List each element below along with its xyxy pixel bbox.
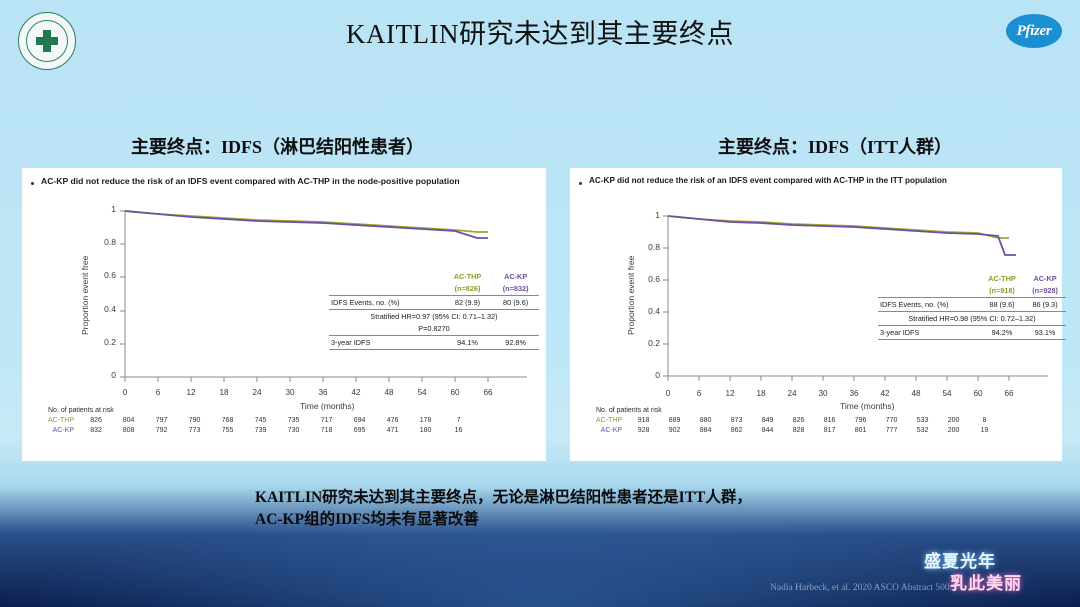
section-heading-right: 主要终点：IDFS（ITT人群）: [718, 133, 952, 159]
x-tick-right-5: 24: [784, 389, 800, 398]
risk-right-kp-2: 884: [690, 425, 721, 435]
risk-right-thp-2: 880: [690, 415, 721, 425]
risk-right-thp-5: 826: [783, 415, 814, 425]
risk-right-kp-3: 862: [721, 425, 752, 435]
x-tick-right-8: 42: [877, 389, 893, 398]
x-tick-left-9: 48: [381, 388, 397, 397]
risk-right-title: No. of patients at risk: [596, 407, 1000, 414]
stats-left-3y-kp: 92.8%: [492, 336, 539, 349]
x-tick-left-8: 42: [348, 388, 364, 397]
x-tick-right-2: 6: [691, 389, 707, 398]
risk-left-title: No. of patients at risk: [48, 407, 475, 414]
stats-left-3y-thp: 94.1%: [443, 336, 493, 349]
risk-right-kp-label: AC-KP: [596, 425, 628, 435]
risk-left-thp-4: 768: [211, 415, 244, 425]
stats-right-3y-thp: 94.2%: [980, 326, 1024, 339]
y-tick-left-4: 0.4: [94, 304, 116, 314]
risk-left-kp-7: 718: [310, 425, 343, 435]
x-tick-left-3: 12: [183, 388, 199, 397]
stats-right-events-kp: 86 (9.3): [1024, 298, 1066, 311]
risk-right-kp-10: 200: [938, 425, 969, 435]
x-tick-right-6: 30: [815, 389, 831, 398]
risk-left-kp-5: 739: [244, 425, 277, 435]
stats-right-thp-label: AC-THP: [980, 272, 1024, 284]
risk-left-thp-1: 804: [112, 415, 145, 425]
x-tick-left-5: 24: [249, 388, 265, 397]
x-tick-left-6: 30: [282, 388, 298, 397]
risk-right-thp-4: 849: [752, 415, 783, 425]
x-tick-left-1: 0: [117, 388, 133, 397]
stats-left-hr: Stratified HR=0.97 (95% CI: 0.71–1.32): [329, 310, 539, 323]
risk-right-kp-6: 817: [814, 425, 845, 435]
risk-left-kp-label: AC-KP: [48, 425, 80, 435]
risk-left-kp-6: 730: [277, 425, 310, 435]
risk-right-thp-1: 889: [659, 415, 690, 425]
risk-left-thp-label: AC-THP: [48, 415, 80, 425]
pfizer-logo: Pfizer: [1006, 14, 1062, 48]
x-tick-left-11: 60: [447, 388, 463, 397]
risk-left-thp-11: 7: [442, 415, 475, 425]
risk-left-row-thp: AC-THP 826 804 797 790 768 745 735 717 6…: [48, 415, 475, 425]
watermark-line-1: 盛夏光年: [924, 547, 996, 572]
x-tick-right-10: 54: [939, 389, 955, 398]
risk-left-kp-8: 695: [343, 425, 376, 435]
y-tick-left-3: 0.6: [94, 270, 116, 280]
y-tick-right-6: 0: [638, 370, 660, 380]
risk-left-thp-5: 745: [244, 415, 277, 425]
risk-left-kp-9: 471: [376, 425, 409, 435]
y-tick-right-2: 0.8: [638, 242, 660, 252]
risk-left-thp-8: 694: [343, 415, 376, 425]
y-tick-right-4: 0.4: [638, 306, 660, 316]
risk-right-thp-8: 770: [876, 415, 907, 425]
risk-right-kp-8: 777: [876, 425, 907, 435]
stats-left-events-label: IDFS Events, no. (%): [329, 296, 443, 309]
bullet-dot-icon: [579, 182, 582, 185]
stats-right-thp-n: (n=918): [980, 284, 1024, 296]
risk-left-thp-9: 476: [376, 415, 409, 425]
risk-right-thp-0: 918: [628, 415, 659, 425]
y-tick-left-6: 0: [94, 370, 116, 380]
risk-table-right: No. of patients at risk AC-THP 918 889 8…: [596, 407, 1000, 435]
x-tick-left-7: 36: [315, 388, 331, 397]
risk-right-row-thp: AC-THP 918 889 880 873 849 826 816 796 7…: [596, 415, 1000, 425]
x-tick-left-12: 66: [480, 388, 496, 397]
panel-left-bullet-text: AC-KP did not reduce the risk of an IDFS…: [41, 176, 460, 187]
stats-table-right: AC-THP AC-KP (n=918) (n=928) IDFS Events…: [878, 272, 1066, 340]
risk-left-kp-3: 773: [178, 425, 211, 435]
risk-right-kp-9: 532: [907, 425, 938, 435]
risk-left-kp-1: 808: [112, 425, 145, 435]
risk-right-kp-1: 902: [659, 425, 690, 435]
risk-left-row-kp: AC-KP 832 808 792 773 755 739 730 718 69…: [48, 425, 475, 435]
risk-right-thp-6: 816: [814, 415, 845, 425]
stats-right-events-label: IDFS Events, no. (%): [878, 298, 980, 311]
risk-right-thp-10: 200: [938, 415, 969, 425]
risk-left-kp-10: 180: [409, 425, 442, 435]
stats-left-thp-label: AC-THP: [443, 270, 493, 282]
x-tick-left-4: 18: [216, 388, 232, 397]
risk-left-kp-2: 792: [145, 425, 178, 435]
risk-left-kp-4: 755: [211, 425, 244, 435]
bullet-dot-icon: [31, 182, 34, 185]
y-tick-right-3: 0.6: [638, 274, 660, 284]
panel-right-bullet-text: AC-KP did not reduce the risk of an IDFS…: [589, 176, 947, 186]
x-tick-right-4: 18: [753, 389, 769, 398]
stats-right-hr: Stratified HR=0.98 (95% CI: 0.72–1.32): [878, 312, 1066, 325]
y-tick-left-2: 0.8: [94, 237, 116, 247]
panel-right-bullet: AC-KP did not reduce the risk of an IDFS…: [570, 168, 1062, 186]
risk-right-kp-5: 828: [783, 425, 814, 435]
risk-right-thp-label: AC-THP: [596, 415, 628, 425]
risk-left-kp-11: 16: [442, 425, 475, 435]
x-tick-right-3: 12: [722, 389, 738, 398]
risk-right-thp-3: 873: [721, 415, 752, 425]
risk-left-thp-2: 797: [145, 415, 178, 425]
stats-left-pvalue: P=0.8270: [329, 322, 539, 334]
x-tick-right-11: 60: [970, 389, 986, 398]
stats-left-kp-n: (n=832): [492, 282, 539, 294]
stats-left-events-thp: 82 (9.9): [443, 296, 493, 309]
risk-left-thp-6: 735: [277, 415, 310, 425]
summary-line-1: KAITLIN研究未达到其主要终点，无论是淋巴结阳性患者还是ITT人群，: [255, 487, 915, 509]
risk-right-kp-0: 928: [628, 425, 659, 435]
summary-text: KAITLIN研究未达到其主要终点，无论是淋巴结阳性患者还是ITT人群， AC-…: [255, 487, 915, 532]
citation: Nadia Harbeck, et al. 2020 ASCO Abstract…: [770, 583, 952, 593]
stats-left-kp-label: AC-KP: [492, 270, 539, 282]
stats-right-3y-kp: 93.1%: [1024, 326, 1066, 339]
y-tick-right-5: 0.2: [638, 338, 660, 348]
y-tick-right-1: 1: [638, 210, 660, 220]
x-tick-right-9: 48: [908, 389, 924, 398]
risk-right-kp-11: 19: [969, 425, 1000, 435]
stats-right-events-thp: 88 (9.6): [980, 298, 1024, 311]
risk-right-thp-9: 533: [907, 415, 938, 425]
risk-table-left: No. of patients at risk AC-THP 826 804 7…: [48, 407, 475, 435]
stats-left-events-kp: 80 (9.6): [492, 296, 539, 309]
risk-right-kp-7: 801: [845, 425, 876, 435]
y-tick-left-5: 0.2: [94, 337, 116, 347]
summary-line-2: AC-KP组的IDFS均未有显著改善: [255, 509, 915, 531]
stats-left-3y-label: 3-year IDFS: [329, 336, 443, 349]
risk-right-row-kp: AC-KP 928 902 884 862 844 828 817 801 77…: [596, 425, 1000, 435]
watermark-line-2: 乳此美丽: [950, 569, 1022, 594]
risk-right-thp-11: 8: [969, 415, 1000, 425]
stats-left-thp-n: (n=826): [443, 282, 493, 294]
x-tick-right-12: 66: [1001, 389, 1017, 398]
panel-left-bullet: AC-KP did not reduce the risk of an IDFS…: [22, 168, 546, 187]
page-title: KAITLIN研究未达到其主要终点: [0, 12, 1080, 51]
pfizer-logo-text: Pfizer: [1017, 23, 1052, 40]
x-tick-right-1: 0: [660, 389, 676, 398]
y-axis-label-left: Proportion event free: [80, 256, 90, 335]
x-tick-left-2: 6: [150, 388, 166, 397]
risk-left-thp-3: 790: [178, 415, 211, 425]
stats-table-left: AC-THP AC-KP (n=826) (n=832) IDFS Events…: [329, 270, 539, 350]
y-tick-left-1: 1: [94, 204, 116, 214]
risk-left-thp-0: 826: [80, 415, 112, 425]
stats-right-3y-label: 3-year IDFS: [878, 326, 980, 339]
risk-right-thp-7: 796: [845, 415, 876, 425]
x-tick-left-10: 54: [414, 388, 430, 397]
risk-left-kp-0: 832: [80, 425, 112, 435]
risk-right-kp-4: 844: [752, 425, 783, 435]
risk-left-thp-10: 178: [409, 415, 442, 425]
section-heading-left: 主要终点：IDFS（淋巴结阳性患者）: [131, 133, 424, 159]
stats-right-kp-label: AC-KP: [1024, 272, 1066, 284]
risk-left-thp-7: 717: [310, 415, 343, 425]
stats-right-kp-n: (n=928): [1024, 284, 1066, 296]
y-axis-label-right: Proportion event free: [626, 256, 636, 335]
x-tick-right-7: 36: [846, 389, 862, 398]
